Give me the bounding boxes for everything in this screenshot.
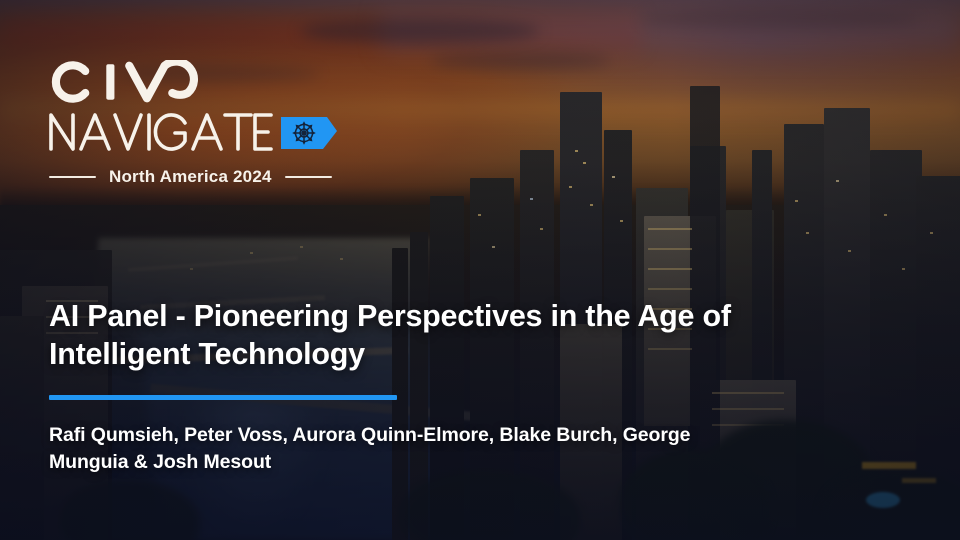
- session-content: AI Panel - Pioneering Perspectives in th…: [49, 298, 809, 477]
- speaker-names: Rafi Qumsieh, Peter Voss, Aurora Quinn-E…: [49, 422, 709, 477]
- navigate-wordmark: [47, 108, 275, 154]
- edition-row: North America 2024: [47, 167, 347, 187]
- session-title: AI Panel - Pioneering Perspectives in th…: [49, 298, 779, 374]
- civo-wordmark: [47, 60, 244, 104]
- ship-helm-icon: [292, 121, 316, 145]
- edition-dash-left: [49, 176, 96, 178]
- presentation-slide: North America 2024 AI Panel - Pioneering…: [0, 0, 960, 540]
- civo-navigate-logo: North America 2024: [47, 60, 347, 187]
- navigate-row: [47, 108, 347, 154]
- navigate-helm-badge: [281, 115, 337, 151]
- accent-divider: [49, 395, 397, 400]
- edition-dash-right: [285, 176, 332, 178]
- edition-label: North America 2024: [109, 167, 272, 187]
- badge-parallelogram: [281, 115, 337, 151]
